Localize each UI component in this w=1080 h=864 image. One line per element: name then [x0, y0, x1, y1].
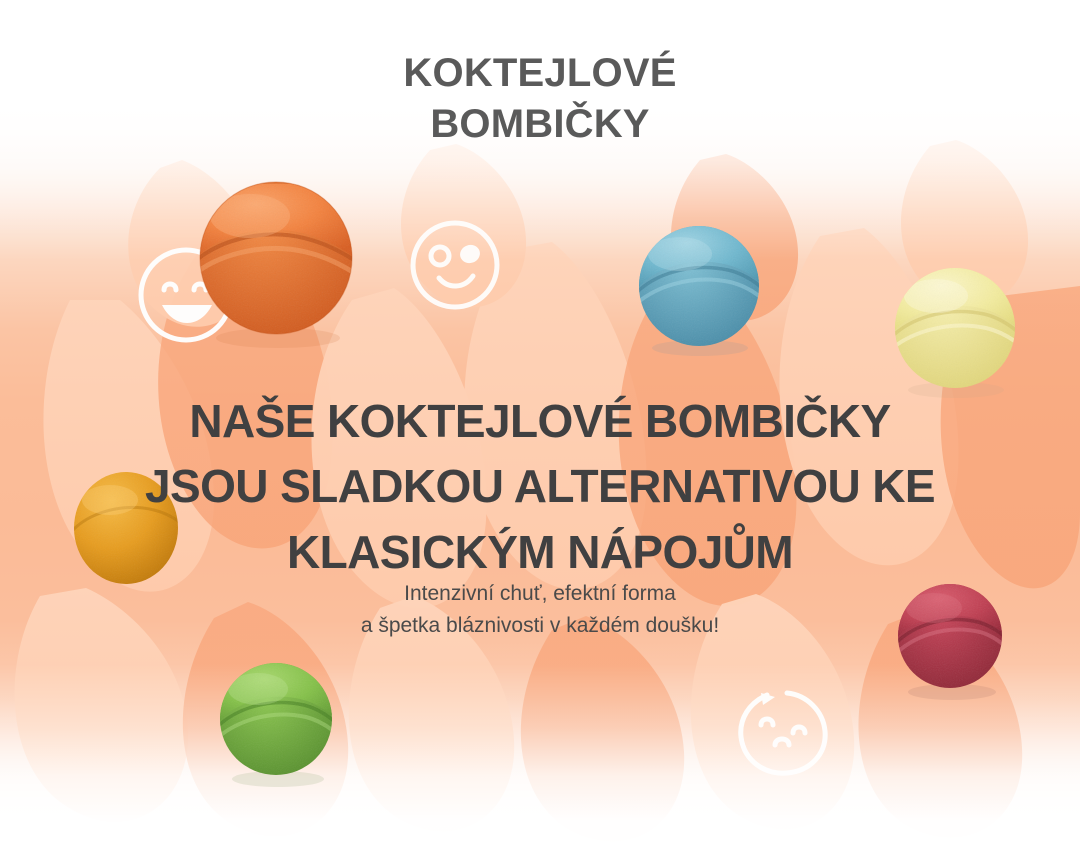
smiley-round-eyes-icon: [406, 216, 504, 314]
headline-line-3: KLASICKÝM NÁPOJŮM: [0, 520, 1080, 585]
bath-bomb-blue: [628, 216, 770, 358]
eyebrow-title: KOKTEJLOVÉ BOMBIČKY: [0, 48, 1080, 150]
smiley-three-dots-icon: [735, 683, 831, 779]
headline: NAŠE KOKTEJLOVÉ BOMBIČKY JSOU SLADKOU AL…: [0, 389, 1080, 585]
blob-shape: [521, 616, 684, 841]
bath-bomb-green: [210, 655, 342, 787]
eyebrow-line-2: BOMBIČKY: [0, 99, 1080, 150]
subheadline-line-2: a špetka bláznivosti v každém doušku!: [0, 610, 1080, 642]
bath-bomb-orange: [186, 170, 366, 350]
bath-bomb-yellow: [884, 258, 1026, 400]
subheadline-line-1: Intenzivní chuť, efektní forma: [0, 578, 1080, 610]
subheadline: Intenzivní chuť, efektní forma a špetka …: [0, 578, 1080, 642]
eyebrow-line-1: KOKTEJLOVÉ: [0, 48, 1080, 99]
headline-line-1: NAŠE KOKTEJLOVÉ BOMBIČKY: [0, 389, 1080, 454]
promo-banner: KOKTEJLOVÉ BOMBIČKY NAŠE KOKTEJLOVÉ BOMB…: [0, 0, 1080, 864]
headline-line-2: JSOU SLADKOU ALTERNATIVOU KE: [0, 454, 1080, 519]
